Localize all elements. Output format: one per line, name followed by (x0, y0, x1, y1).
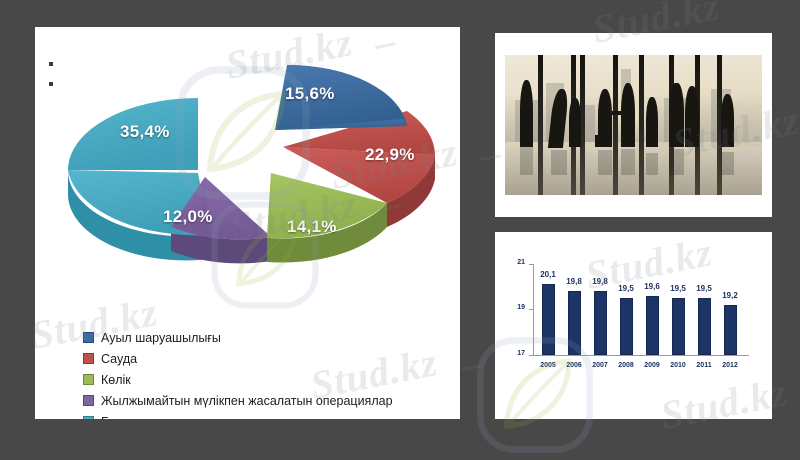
y-axis-label-21: 21 (509, 259, 525, 266)
legend-swatch-realestate (83, 395, 94, 406)
legend-swatch-trade (83, 353, 94, 364)
legend-label-others: Басқалар (101, 415, 156, 420)
business-people-silhouettes-photo (505, 55, 762, 195)
x-axis-label-2012: 2012 (715, 362, 745, 369)
person-silhouette (646, 97, 658, 147)
legend-item-realestate: Жылжымайтын мүлікпен жасалатын операциял… (83, 390, 453, 411)
person-silhouette (721, 94, 734, 147)
pie-label-transport: 14,1% (287, 217, 337, 237)
legend-label-transport: Көлік (101, 373, 131, 387)
person-silhouette (569, 98, 581, 147)
bar-2008[interactable] (620, 298, 633, 355)
window-mullion (538, 55, 543, 195)
y-axis-label-19: 19 (509, 304, 525, 311)
bar-value-2012: 19,2 (715, 291, 745, 300)
bar-2006[interactable] (568, 291, 581, 355)
person-silhouette (669, 83, 683, 147)
legend-label-trade: Сауда (101, 352, 137, 366)
y-tick-19 (529, 309, 534, 310)
y-axis-label-17: 17 (509, 350, 525, 357)
person-reflection (721, 152, 734, 176)
photo-panel (495, 33, 772, 217)
legend-swatch-agriculture (83, 332, 94, 343)
pie-legend: Ауыл шаруашылығы Сауда Көлік Жылжымайтын… (83, 327, 453, 419)
window-mullion (639, 55, 644, 195)
bar-2009[interactable] (646, 296, 659, 355)
legend-label-agriculture: Ауыл шаруашылығы (101, 331, 221, 345)
bar-2012[interactable] (724, 305, 737, 355)
legend-item-transport: Көлік (83, 369, 453, 390)
handshake-arms (612, 111, 625, 115)
slide: 15,6% 22,9% 14,1% 12,0% 35,4% Ауыл шаруа… (0, 0, 800, 450)
x-axis (533, 355, 749, 356)
person-reflection (621, 149, 635, 176)
pie-chart-svg (35, 27, 460, 312)
person-silhouette (520, 80, 533, 147)
y-tick-21 (529, 264, 534, 265)
pie-chart-panel: 15,6% 22,9% 14,1% 12,0% 35,4% Ауыл шаруа… (35, 27, 460, 419)
bar-2005[interactable] (542, 284, 555, 355)
person-reflection (520, 147, 533, 175)
legend-item-agriculture: Ауыл шаруашылығы (83, 327, 453, 348)
bar-chart-panel: 21 19 17 20,1 19,8 19,8 19,5 19,6 19,5 1… (495, 232, 772, 419)
person-reflection (598, 150, 612, 175)
person-silhouette (685, 86, 699, 148)
pie-label-others: 35,4% (120, 122, 170, 142)
bar-2007[interactable] (594, 291, 607, 355)
legend-swatch-transport (83, 374, 94, 385)
y-tick-17 (529, 355, 534, 356)
bar-2010[interactable] (672, 298, 685, 355)
legend-item-others: Басқалар (83, 411, 453, 419)
pie-chart: 15,6% 22,9% 14,1% 12,0% 35,4% (35, 27, 460, 312)
person-reflection (646, 153, 658, 175)
window-mullion (613, 55, 618, 195)
briefcase (595, 135, 605, 148)
bar-2011[interactable] (698, 298, 711, 355)
bar-chart: 21 19 17 20,1 19,8 19,8 19,5 19,6 19,5 1… (495, 232, 772, 419)
person-silhouette-handshake-right (621, 83, 635, 147)
watermark-separator: – (458, 338, 488, 388)
person-reflection (551, 150, 566, 175)
legend-swatch-others (83, 416, 94, 419)
person-reflection (669, 149, 683, 176)
legend-label-realestate: Жылжымайтын мүлікпен жасалатын операциял… (101, 394, 393, 408)
pie-label-agriculture: 15,6% (285, 84, 335, 104)
pie-slice-top-transport-2 (267, 173, 271, 238)
legend-item-trade: Сауда (83, 348, 453, 369)
pie-label-realestate: 12,0% (163, 207, 213, 227)
pie-label-trade: 22,9% (365, 145, 415, 165)
